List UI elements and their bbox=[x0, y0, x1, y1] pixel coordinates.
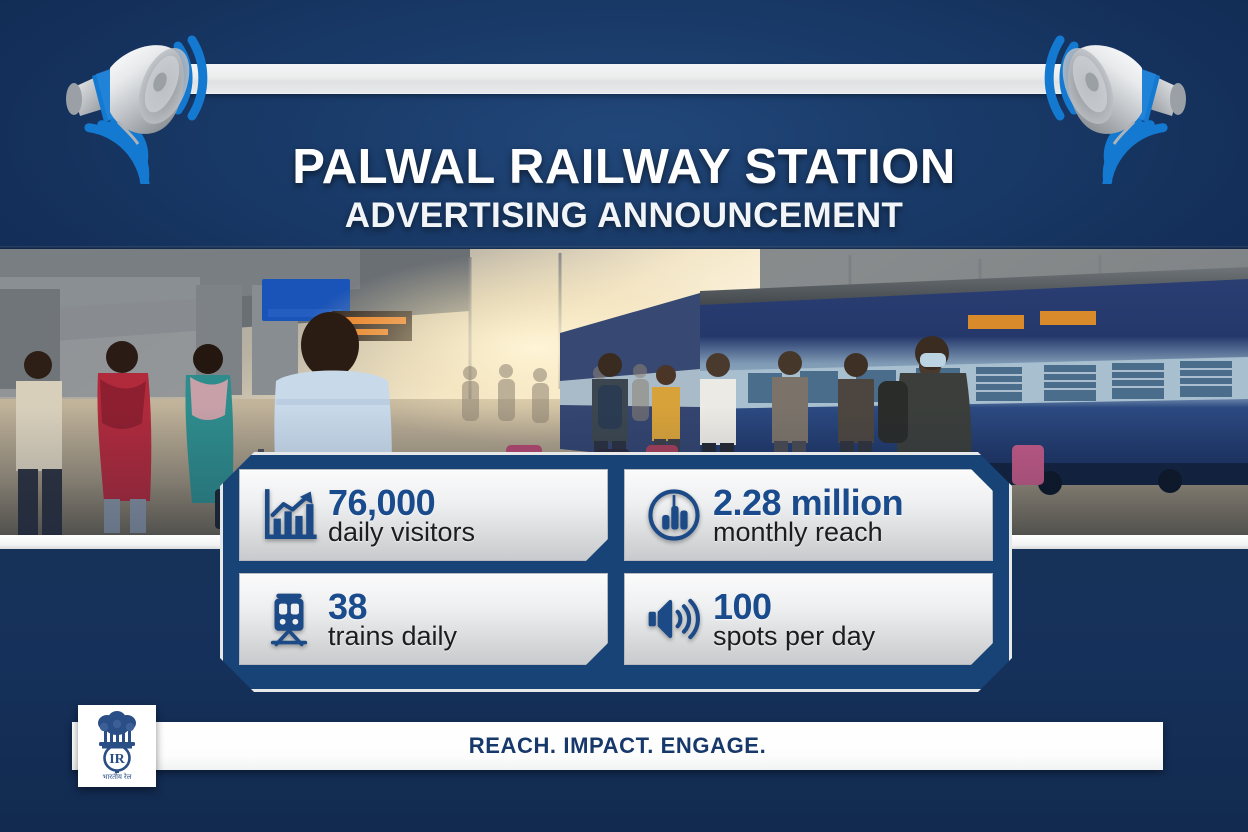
stat-value: 2.28 million bbox=[713, 485, 903, 521]
logo-initials: IR bbox=[109, 752, 125, 767]
stat-text: 100 spots per day bbox=[713, 589, 875, 650]
stats-row-bottom: 38 trains daily bbox=[239, 573, 993, 665]
logo-hindi-text: भारतीय रेल bbox=[102, 772, 131, 781]
statistics-panel: 76,000 daily visitors bbox=[220, 452, 1012, 692]
stats-row-top: 76,000 daily visitors bbox=[239, 469, 993, 561]
stat-value: 76,000 bbox=[328, 485, 475, 521]
train-front-icon bbox=[256, 586, 322, 652]
circular-bar-chart-icon bbox=[641, 482, 707, 548]
stat-label: monthly reach bbox=[713, 519, 903, 546]
stat-text: 76,000 daily visitors bbox=[328, 485, 475, 546]
megaphone-icon-left bbox=[52, 16, 242, 184]
banner-ribbon bbox=[168, 64, 1080, 94]
megaphone-icon-right bbox=[1010, 16, 1200, 184]
stat-label: trains daily bbox=[328, 623, 457, 650]
poster-canvas: PALWAL RAILWAY STATION ADVERTISING ANNOU… bbox=[0, 0, 1248, 832]
stat-value: 38 bbox=[328, 589, 457, 625]
speaker-volume-icon bbox=[641, 586, 707, 652]
bar-chart-growth-icon bbox=[256, 482, 322, 548]
stat-text: 38 trains daily bbox=[328, 589, 457, 650]
stat-card-daily-visitors[interactable]: 76,000 daily visitors bbox=[239, 469, 608, 561]
stat-card-trains-daily[interactable]: 38 trains daily bbox=[239, 573, 608, 665]
stat-label: spots per day bbox=[713, 623, 875, 650]
indian-railways-logo: IR भारतीय रेल bbox=[78, 705, 156, 787]
stat-label: daily visitors bbox=[328, 519, 475, 546]
header-band bbox=[0, 0, 1248, 249]
footer-bar: REACH. IMPACT. ENGAGE. bbox=[72, 722, 1163, 770]
stat-card-spots-per-day[interactable]: 100 spots per day bbox=[624, 573, 993, 665]
stat-text: 2.28 million monthly reach bbox=[713, 485, 903, 546]
stat-value: 100 bbox=[713, 589, 875, 625]
tagline: REACH. IMPACT. ENGAGE. bbox=[469, 733, 767, 759]
stat-card-monthly-reach[interactable]: 2.28 million monthly reach bbox=[624, 469, 993, 561]
